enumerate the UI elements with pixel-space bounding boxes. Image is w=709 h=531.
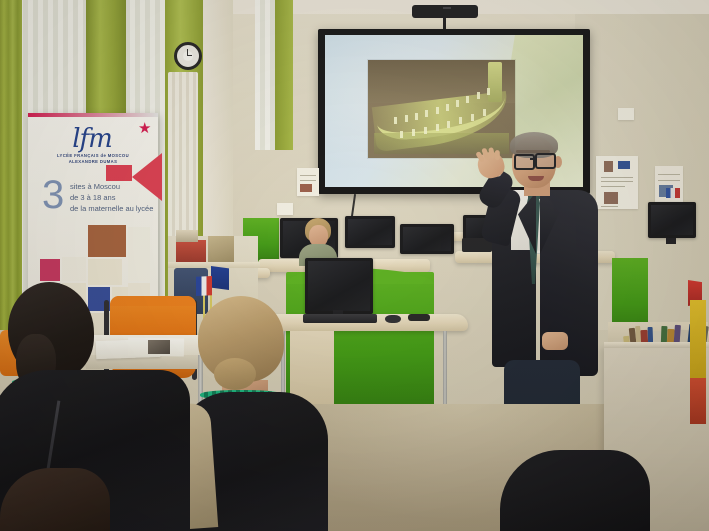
banner-mosaic-tile [40, 259, 60, 281]
wall-poster-2 [655, 166, 683, 206]
monitor-stand-right [666, 238, 676, 244]
slide-photo-window [471, 114, 474, 121]
presenter-mouth [528, 176, 544, 181]
banner-subtitle-line2: ALEXANDRE DUMAS [40, 159, 146, 165]
banner-big-number: 3 [42, 175, 64, 215]
banner-logo: lfm [53, 125, 131, 153]
banner-top-stripe [28, 113, 158, 117]
shelf-papers [176, 230, 198, 242]
slide-photo-window [459, 117, 462, 124]
soundbar-led [443, 7, 451, 9]
glasses-bridge [530, 158, 536, 160]
wall-poster-5 [277, 203, 293, 215]
wall-poster-4 [297, 168, 319, 196]
eu-flag-icon: ★ [211, 266, 229, 290]
seated-attendee-right-foreground [500, 450, 650, 531]
slide-photo-window [424, 127, 427, 134]
slide-photo-window [400, 131, 403, 138]
monitor-right-1[interactable] [648, 202, 696, 238]
wall-poster-3 [618, 108, 634, 120]
monitor-back-3[interactable] [400, 224, 454, 254]
banner-mosaic-tile [88, 225, 126, 257]
slide-photo-window [415, 113, 418, 120]
slide-photo-window [436, 124, 439, 131]
banner-text-block: sites à Moscou de 3 à 18 ans de la mater… [70, 181, 156, 214]
banner-line-1: sites à Moscou [70, 181, 156, 192]
clock-face [183, 51, 193, 61]
yellow-display-panel [690, 300, 706, 378]
banner-mosaic-tile [128, 227, 150, 281]
banner-mosaic-tile [62, 257, 86, 281]
mouse-mid[interactable] [385, 315, 401, 323]
russian-flag-poster-icon [666, 188, 680, 198]
red-display-panel [690, 378, 706, 424]
glasses-lens-right [535, 153, 556, 169]
curtain-left [0, 0, 22, 330]
glasses-lens-left [514, 154, 535, 170]
slide-photo-window [487, 88, 490, 95]
curtain-far [275, 0, 293, 150]
slide-photo-window [405, 115, 408, 122]
presenter-hand-in-pocket [542, 332, 568, 350]
slide-photo-window [447, 121, 450, 128]
slide-photo-window [466, 96, 469, 103]
monitor-back-2[interactable] [345, 216, 395, 248]
wall-clock-icon [174, 42, 202, 70]
attendee-b-hair-bun [214, 358, 256, 390]
banner-subtitle: LYCÉE FRANÇAIS de MOSCOU ALEXANDRE DUMAS [40, 153, 146, 165]
slide-photo-window [412, 129, 415, 136]
banner-line-2: de 3 à 18 ans [70, 192, 156, 203]
banner-arrow-tail [106, 165, 132, 181]
slide-photo-window [456, 100, 459, 107]
classroom-presentation-photo: ★ lfm ★ LYCÉE FRANÇAIS de MOSCOU ALEXAND… [0, 0, 709, 531]
clock-hand-minute [187, 55, 192, 56]
slide-photo-window [394, 117, 397, 124]
shelf-books-stack [176, 240, 206, 262]
slide-photo-window [477, 92, 480, 99]
slide-photo-window [446, 104, 449, 111]
slide-photo-window [436, 107, 439, 114]
slide-photo-window [425, 110, 428, 117]
remote-control[interactable] [408, 314, 430, 321]
slide-photo-window [483, 109, 486, 116]
shelf-box [208, 236, 234, 262]
slide-photo-tower [488, 62, 502, 102]
banner-line-3: de la maternelle au lycée [70, 203, 156, 214]
